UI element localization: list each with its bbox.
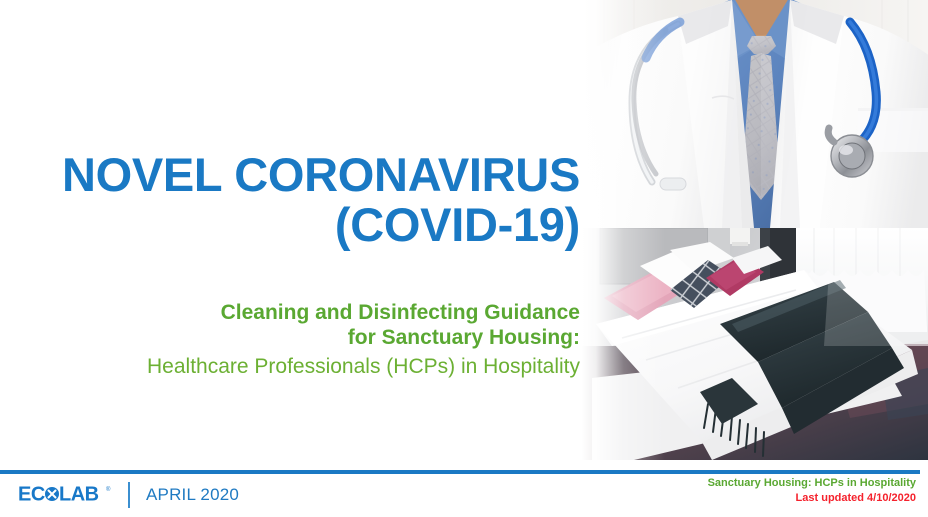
footer-divider bbox=[128, 482, 130, 508]
slide-footer: EC LAB ® APRIL 2020 Sanctuary Housing: H… bbox=[0, 474, 928, 517]
svg-text:®: ® bbox=[106, 486, 111, 493]
subtitle-line-2: for Sanctuary Housing: bbox=[20, 325, 580, 350]
title-block: NOVEL CORONAVIRUS (COVID-19) bbox=[20, 150, 580, 250]
hotel-bed-photo bbox=[582, 228, 928, 460]
subtitle-line-1: Cleaning and Disinfecting Guidance bbox=[20, 300, 580, 325]
presentation-date: APRIL 2020 bbox=[146, 485, 239, 505]
page-title: NOVEL CORONAVIRUS (COVID-19) bbox=[20, 150, 580, 250]
svg-text:LAB: LAB bbox=[59, 484, 99, 506]
footer-left-group: EC LAB ® APRIL 2020 bbox=[18, 482, 239, 508]
ecolab-logo: EC LAB ® bbox=[18, 483, 114, 507]
doctor-photo bbox=[582, 0, 928, 228]
footer-right-group: Sanctuary Housing: HCPs in Hospitality L… bbox=[708, 476, 916, 506]
photo-column bbox=[582, 0, 928, 460]
svg-text:EC: EC bbox=[18, 484, 45, 506]
last-updated-label: Last updated 4/10/2020 bbox=[708, 491, 916, 506]
deck-name-label: Sanctuary Housing: HCPs in Hospitality bbox=[708, 476, 916, 491]
subtitle-block: Cleaning and Disinfecting Guidance for S… bbox=[20, 300, 580, 379]
presentation-slide: NOVEL CORONAVIRUS (COVID-19) Cleaning an… bbox=[0, 0, 928, 517]
subtitle-line-3: Healthcare Professionals (HCPs) in Hospi… bbox=[20, 354, 580, 379]
page-title-line-2: (COVID-19) bbox=[335, 198, 580, 251]
page-title-line-1: NOVEL CORONAVIRUS bbox=[62, 148, 580, 201]
